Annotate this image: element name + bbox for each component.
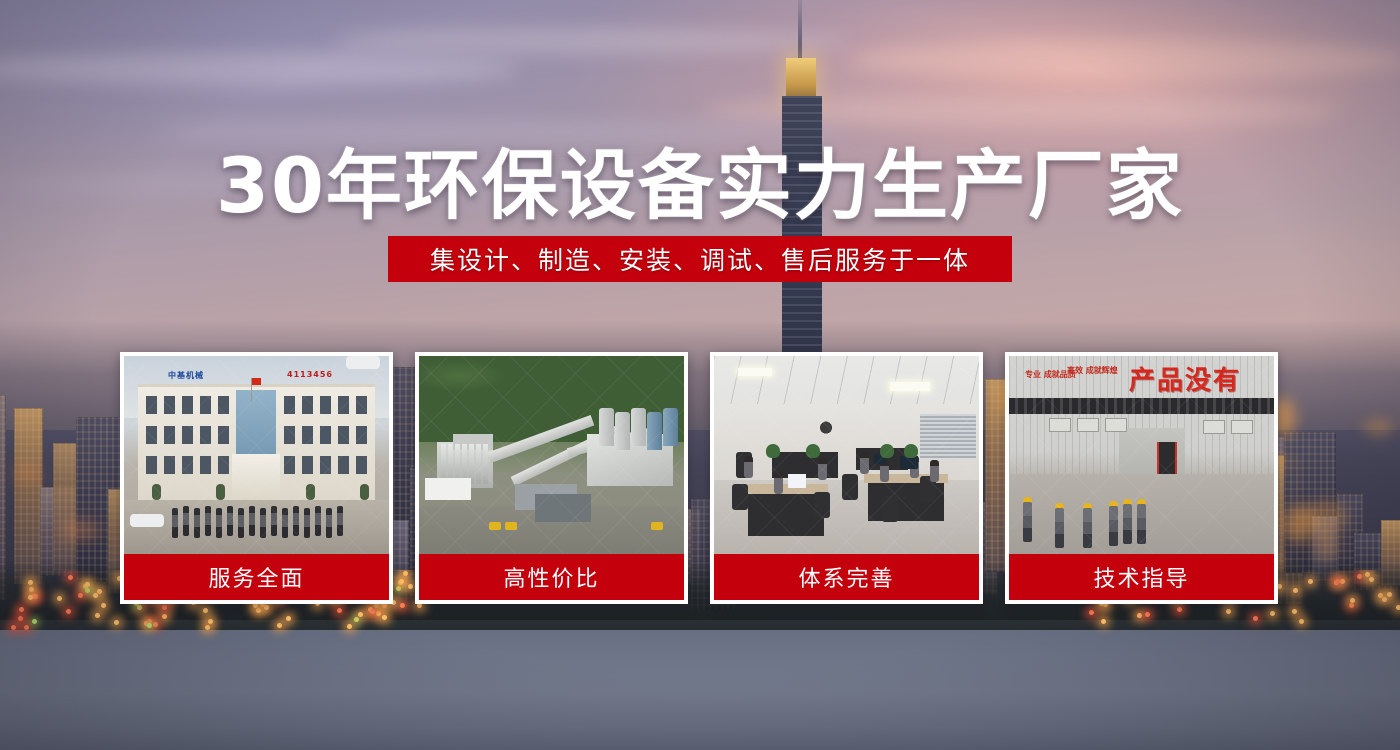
card-photo-company-office-building-with-staff: 中基机械 4113456	[124, 356, 389, 554]
feature-card[interactable]: 中基机械 4113456 服务全面	[120, 352, 393, 604]
page-title: 30年环保设备实力生产厂家	[0, 124, 1400, 234]
feature-card[interactable]: 产品没有 专业 成就品质 高效 成就辉煌 技术指导	[1005, 352, 1278, 604]
card-photo-aerial-view-industrial-plant	[419, 356, 684, 554]
card-caption: 服务全面	[124, 554, 389, 600]
card-caption: 高性价比	[419, 554, 684, 600]
cloud-band	[0, 52, 520, 86]
promo-banner: 30年环保设备实力生产厂家 集设计、制造、安装、调试、售后服务于一体 中基机械 …	[0, 0, 1400, 750]
tower-spire	[798, 0, 802, 62]
building-phone-text: 4113456	[287, 370, 333, 379]
card-caption: 体系完善	[714, 554, 979, 600]
card-caption: 技术指导	[1009, 554, 1274, 600]
cloud-band	[330, 28, 850, 54]
building-sign-text: 中基机械	[168, 370, 204, 381]
cloud-band	[850, 40, 1400, 80]
feature-card[interactable]: 体系完善	[710, 352, 983, 604]
factory-slogan-right: 高效 成就辉煌	[1067, 366, 1118, 375]
feature-card-row: 中基机械 4113456 服务全面 高性价比	[120, 352, 1280, 604]
subtitle-text: 集设计、制造、安装、调试、售后服务于一体	[430, 241, 970, 277]
subtitle-banner: 集设计、制造、安装、调试、售后服务于一体	[388, 236, 1012, 282]
card-photo-office-interior-with-employees	[714, 356, 979, 554]
factory-sign-text: 产品没有	[1129, 360, 1241, 397]
card-photo-workers-lined-up-at-factory: 产品没有 专业 成就品质 高效 成就辉煌	[1009, 356, 1274, 554]
feature-card[interactable]: 高性价比	[415, 352, 688, 604]
